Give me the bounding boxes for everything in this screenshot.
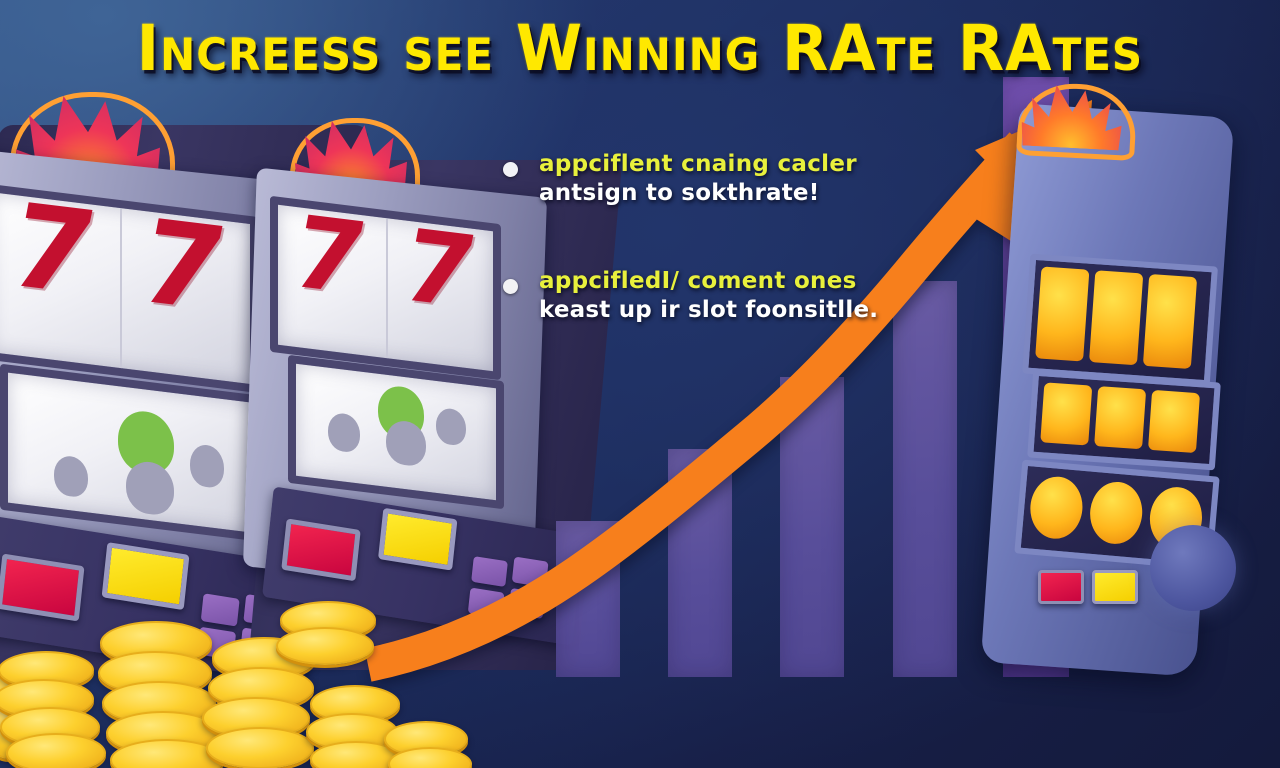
gold-fruit-1: [1028, 475, 1085, 541]
gold-coin-pile: [0, 601, 500, 768]
gold-seven-3: [1143, 274, 1197, 369]
bullet-list: appciflent cnaing cacler antsign to sokt…: [495, 150, 895, 384]
gold-bell-2: [1094, 386, 1146, 449]
bullet-dot-icon: [503, 279, 518, 294]
list-item: appciflent cnaing cacler antsign to sokt…: [495, 150, 895, 209]
gold-button-yellow[interactable]: [1092, 570, 1138, 604]
bullet-line-primary: appcifledI/ coment ones: [539, 267, 895, 296]
gold-bell-3: [1148, 390, 1200, 453]
slot-machine-right-gold: [960, 70, 1280, 690]
round-knob[interactable]: [1150, 525, 1236, 611]
list-item: appcifledI/ coment ones keast up ir slot…: [495, 267, 895, 326]
coin: [6, 733, 106, 768]
gold-fruit-2: [1088, 480, 1145, 546]
poster-canvas: 7 7 7 7: [0, 0, 1280, 768]
gold-bell-1: [1040, 382, 1092, 445]
reel-window-top: [1022, 254, 1218, 387]
gold-seven-2: [1089, 270, 1143, 365]
gold-seven-1: [1035, 266, 1089, 361]
coin: [206, 727, 314, 768]
bullet-line-primary: appciflent cnaing cacler: [539, 150, 895, 179]
bullet-line-secondary: antsign to sokthrate!: [539, 179, 895, 208]
bullet-dot-icon: [503, 162, 518, 177]
gold-button-red[interactable]: [1038, 570, 1084, 604]
coin: [276, 627, 374, 665]
reel-window-middle: [1027, 370, 1221, 471]
bullet-line-secondary: keast up ir slot foonsitlle.: [539, 296, 895, 325]
